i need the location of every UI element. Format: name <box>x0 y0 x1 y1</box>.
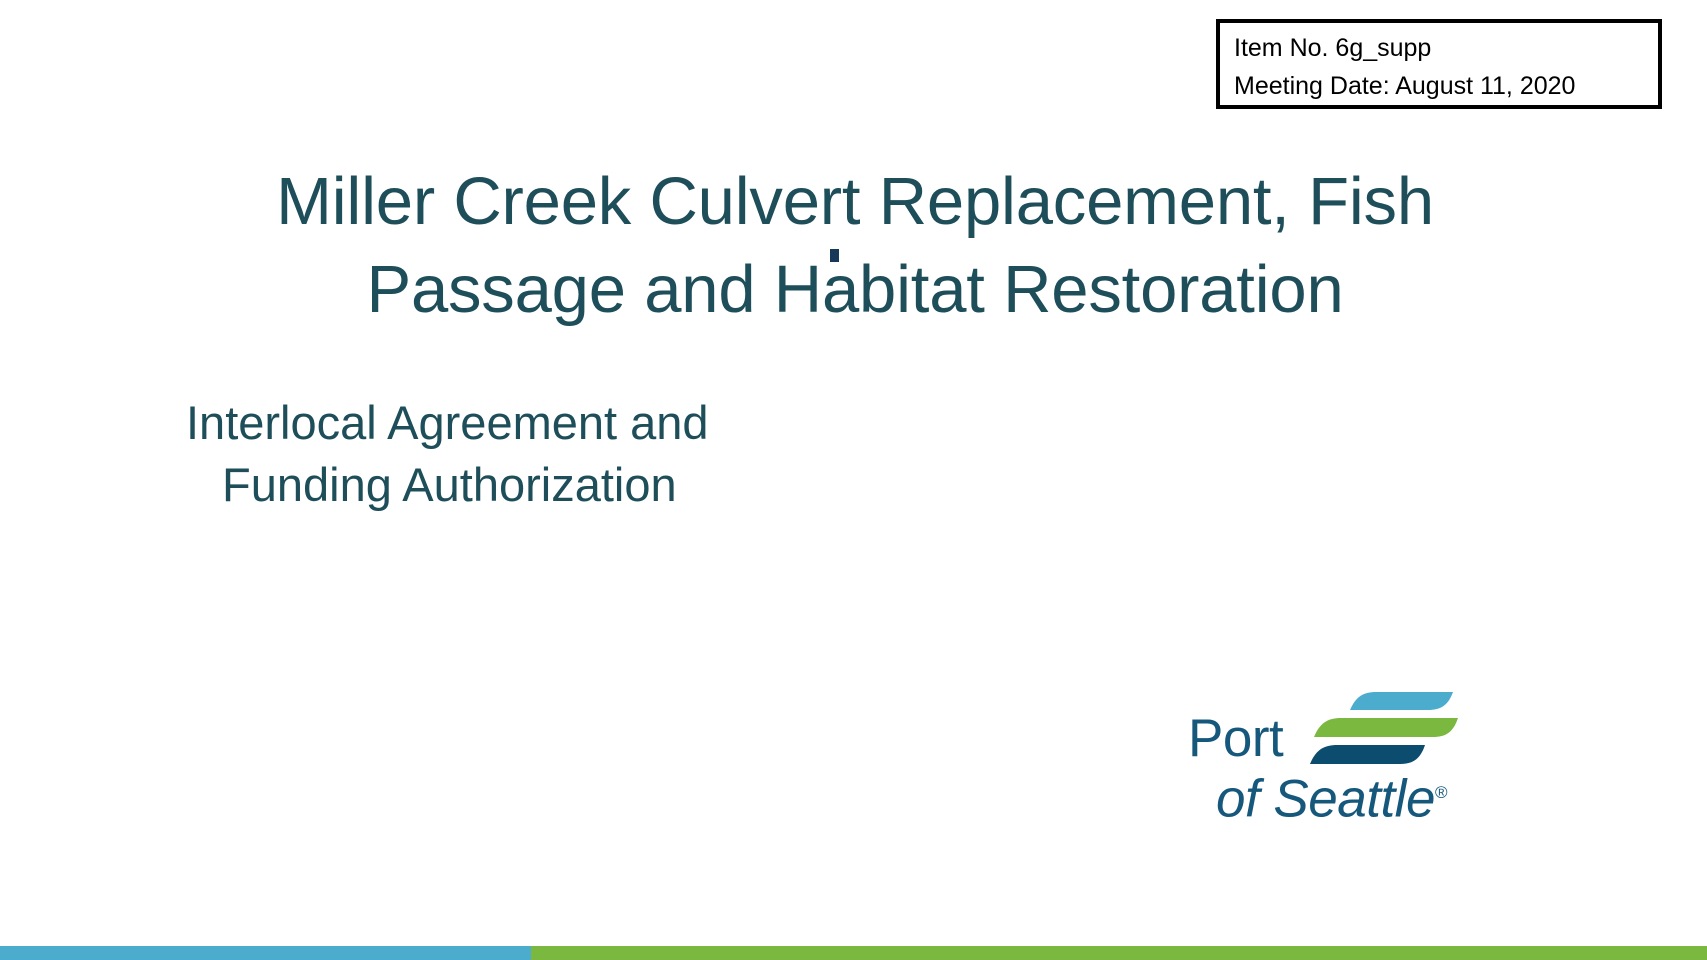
logo-text-port: Port <box>1188 712 1283 765</box>
logo-text-of-seattle-words: of Seattle <box>1216 770 1435 829</box>
title-line-2: Passage and Habitat Restoration <box>120 246 1590 334</box>
presentation-slide: Item No. 6g_supp Meeting Date: August 11… <box>0 0 1707 960</box>
item-info-box: Item No. 6g_supp Meeting Date: August 11… <box>1216 19 1662 109</box>
subtitle-line-1: Interlocal Agreement and <box>186 392 1086 454</box>
registered-trademark-icon: ® <box>1435 783 1447 802</box>
subtitle-line-2: Funding Authorization <box>186 454 1086 516</box>
logo-wave-top <box>1350 692 1453 710</box>
bottom-bar-blue-segment <box>0 946 531 960</box>
bottom-accent-bar <box>0 946 1707 960</box>
logo-wave-bottom <box>1310 745 1425 764</box>
logo-text-of-seattle: of Seattle® <box>1216 766 1447 826</box>
slide-title: Miller Creek Culvert Replacement, Fish P… <box>120 158 1590 334</box>
port-of-seattle-logo: Port of Seattle® <box>1188 688 1458 806</box>
meeting-date-text: Meeting Date: August 11, 2020 <box>1234 67 1658 105</box>
slide-subtitle: Interlocal Agreement and Funding Authori… <box>186 392 1086 516</box>
bottom-bar-green-segment <box>531 946 1707 960</box>
stray-mark-artifact <box>830 249 839 262</box>
logo-wave-middle <box>1314 718 1458 737</box>
title-line-1: Miller Creek Culvert Replacement, Fish <box>120 158 1590 246</box>
item-number-text: Item No. 6g_supp <box>1234 29 1658 67</box>
logo-waves-icon <box>1288 688 1458 768</box>
